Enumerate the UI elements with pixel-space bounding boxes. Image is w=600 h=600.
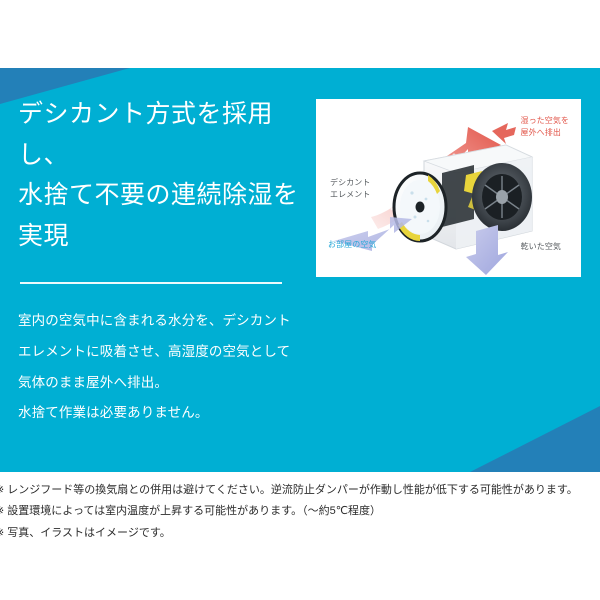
headline: デシカント方式を採用 し、 水捨て不要の連続除湿を 実現 — [18, 94, 303, 256]
body-line-2: エレメントに吸着させ、高湿度の空気として — [18, 337, 303, 368]
label-element-line-2: エレメント — [330, 190, 370, 199]
illustration-card: 湿った空気を 屋外へ排出 デシカント エレメント お部屋の空気 乾いた空気 — [316, 99, 581, 277]
footnotes: ※ レンジフード等の換気扇との併用は避けてください。逆流防止ダンパーが作動し性能… — [0, 480, 600, 544]
label-room-air: お部屋の空気 — [328, 239, 376, 251]
exhaust-arrow-icon — [492, 123, 516, 144]
label-dry-air: 乾いた空気 — [521, 241, 561, 253]
promo-page: デシカント方式を採用 し、 水捨て不要の連続除湿を 実現 室内の空気中に含まれる… — [0, 0, 600, 600]
label-exhaust-line-1: 湿った空気を — [521, 116, 569, 125]
feature-banner: デシカント方式を採用 し、 水捨て不要の連続除湿を 実現 室内の空気中に含まれる… — [0, 68, 600, 472]
body-line-1: 室内の空気中に含まれる水分を、デシカント — [18, 306, 303, 337]
label-exhaust: 湿った空気を 屋外へ排出 — [521, 115, 569, 138]
label-element-line-1: デシカント — [330, 178, 370, 187]
label-desiccant-element: デシカント エレメント — [330, 177, 370, 200]
footnote-2: ※ 設置環境によっては室内温度が上昇する可能性があります。（〜約5℃程度） — [0, 501, 600, 522]
headline-line-4: 実現 — [18, 216, 303, 257]
headline-line-3: 水捨て不要の連続除湿を — [18, 175, 303, 216]
headline-divider — [20, 282, 282, 284]
body-copy: 室内の空気中に含まれる水分を、デシカント エレメントに吸着させ、高湿度の空気とし… — [18, 306, 303, 429]
body-line-4: 水捨て作業は必要ありません。 — [18, 398, 303, 429]
footnote-3: ※ 写真、イラストはイメージです。 — [0, 523, 600, 544]
footnote-1: ※ レンジフード等の換気扇との併用は避けてください。逆流防止ダンパーが作動し性能… — [0, 480, 600, 501]
headline-line-2: し、 — [18, 135, 303, 176]
body-line-3: 気体のまま屋外へ排出。 — [18, 368, 303, 399]
label-exhaust-line-2: 屋外へ排出 — [521, 128, 561, 137]
headline-line-1: デシカント方式を採用 — [18, 94, 303, 135]
corner-wedge-bottom-right — [470, 406, 600, 472]
text-column: デシカント方式を採用 し、 水捨て不要の連続除湿を 実現 室内の空気中に含まれる… — [18, 94, 303, 429]
